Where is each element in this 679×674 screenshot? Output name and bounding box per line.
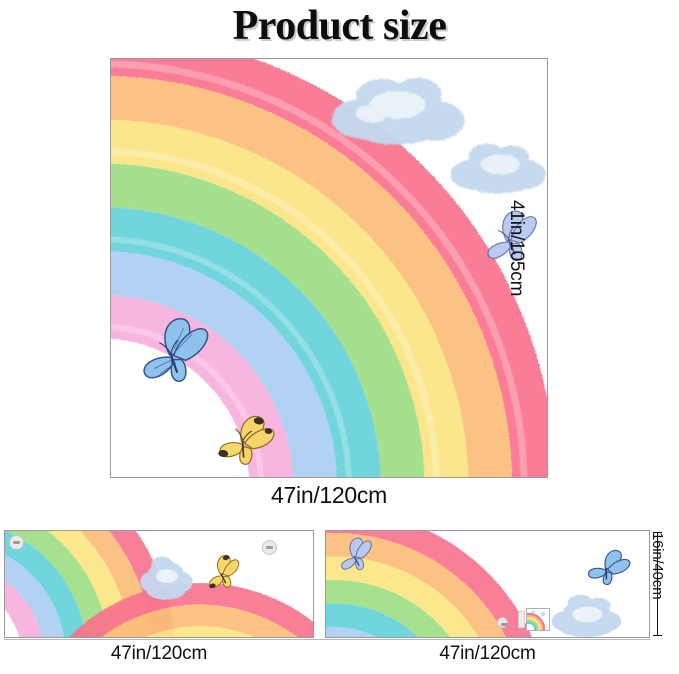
bottom-right-width-label: 47in/120cm bbox=[325, 643, 650, 665]
cloud-small-icon bbox=[450, 144, 546, 194]
corner-marker-right bbox=[262, 540, 277, 555]
rainbow-thumbnail-card bbox=[526, 608, 550, 631]
main-width-label: 47in/120cm bbox=[110, 482, 548, 509]
corner-marker-left bbox=[9, 535, 24, 550]
rainbow-bands bbox=[111, 59, 534, 477]
bottom-left-width-label: 47in/120cm bbox=[4, 643, 314, 665]
rainbow-arc-main bbox=[111, 59, 547, 477]
bottom-right-height-label: 16in/40cm bbox=[649, 532, 666, 599]
main-height-label: 41in/105cm bbox=[505, 200, 527, 296]
rainbow-thumbnail-icon bbox=[527, 609, 549, 630]
cloud-small-icon bbox=[552, 595, 622, 637]
thumbnail-edge-marker bbox=[518, 611, 525, 628]
rainbow-strip-right bbox=[326, 531, 649, 637]
panel-divider bbox=[4, 639, 650, 640]
product-size-infographic: Product size bbox=[0, 0, 679, 674]
bottom-right-panel bbox=[325, 530, 650, 638]
cloud-large-icon bbox=[332, 78, 464, 145]
main-product-panel bbox=[110, 58, 548, 478]
pin-marker bbox=[497, 617, 508, 628]
butterfly-blue-icon bbox=[587, 547, 632, 588]
page-title: Product size bbox=[0, 2, 679, 50]
